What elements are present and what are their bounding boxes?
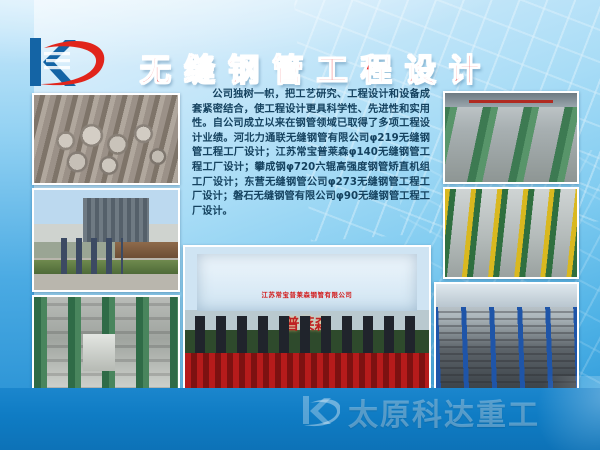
photo-image — [445, 93, 577, 182]
ceremony-banner-text: 江苏常宝普莱森钢管有限公司 — [185, 290, 429, 299]
workshop-roof — [436, 284, 577, 307]
company-name-sign — [115, 242, 178, 258]
steel-pipe-bundle-photo — [32, 93, 180, 185]
photo-image — [436, 284, 577, 390]
title-char-7: 设 — [405, 45, 436, 90]
red-crane-beam — [469, 100, 553, 103]
title-char-6: 程 — [361, 45, 392, 90]
body-paragraph: 公司独树一帜，把工艺研究、工程设计和设备成套紧密结合，使工程设计更具科学性、先进… — [192, 88, 430, 219]
company-logo — [24, 32, 112, 94]
machine-assembly-hall-photo — [443, 91, 579, 184]
footer-band — [0, 388, 600, 450]
poster-canvas: 无 缝 钢 管 工 程 设 计 公司独树一帜，把工艺研究、工程设计和设备成套紧密… — [0, 0, 600, 450]
photo-image — [34, 95, 178, 183]
ceremony-banner — [197, 254, 417, 311]
photo-image — [445, 189, 577, 277]
page-title: 无 缝 钢 管 工 程 设 计 — [140, 44, 480, 90]
machine-base — [83, 334, 115, 371]
factory-building — [83, 198, 149, 242]
title-char-5: 工 — [317, 45, 348, 90]
footer-light-swoosh — [427, 376, 600, 450]
title-char-3: 钢 — [228, 45, 259, 90]
staff-group — [57, 238, 123, 274]
opening-ceremony-photo: 江苏常宝普莱森钢管有限公司 普莱森 — [183, 245, 431, 392]
roller-conveyor-yard-photo — [443, 187, 579, 279]
title-char-4: 管 — [272, 45, 303, 90]
photo-image: 江苏常宝普莱森钢管有限公司 普莱森 — [185, 247, 429, 390]
photo-image — [34, 190, 178, 290]
flower-row — [185, 353, 429, 390]
production-line-photo — [32, 295, 180, 392]
title-char-1: 无 — [140, 45, 171, 90]
photo-image — [34, 297, 178, 390]
factory-gate-staff-photo — [32, 188, 180, 292]
title-char-8: 计 — [449, 45, 480, 90]
title-char-2: 缝 — [184, 45, 215, 90]
